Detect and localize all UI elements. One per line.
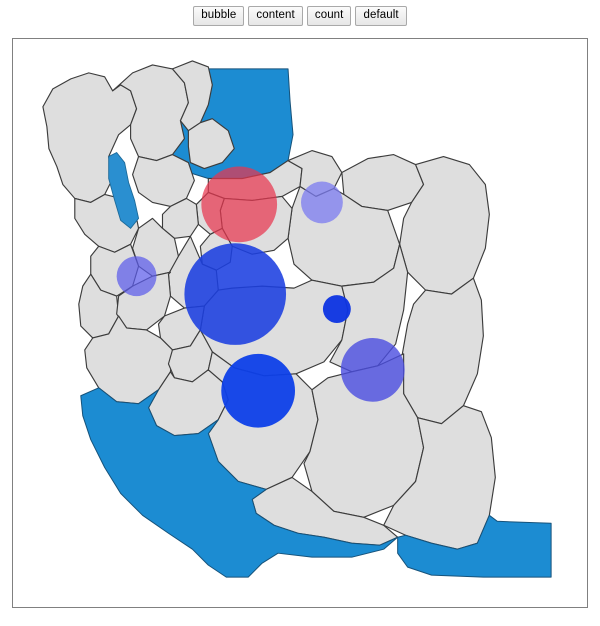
bubble-violet-semnan[interactable] <box>301 181 343 223</box>
toolbar-button-content[interactable]: content <box>248 6 302 26</box>
bubble-map-app: bubble content count default <box>0 0 600 626</box>
iran-province-map[interactable] <box>13 39 587 607</box>
province-south-khorasan[interactable] <box>402 278 484 423</box>
toolbar-button-count[interactable]: count <box>307 6 352 26</box>
toolbar-button-default[interactable]: default <box>355 6 406 26</box>
bubble-purple-khorasan[interactable] <box>341 338 405 402</box>
bubble-blue-isfahan[interactable] <box>184 243 286 345</box>
bubble-red-tehran[interactable] <box>201 167 277 243</box>
bubble-blue-fars[interactable] <box>221 354 295 428</box>
toolbar: bubble content count default <box>0 6 600 26</box>
bubble-violet-khuzestan[interactable] <box>117 256 157 296</box>
map-panel[interactable] <box>12 38 588 608</box>
toolbar-button-bubble[interactable]: bubble <box>193 6 244 26</box>
bubble-blue-yazd[interactable] <box>323 295 351 323</box>
